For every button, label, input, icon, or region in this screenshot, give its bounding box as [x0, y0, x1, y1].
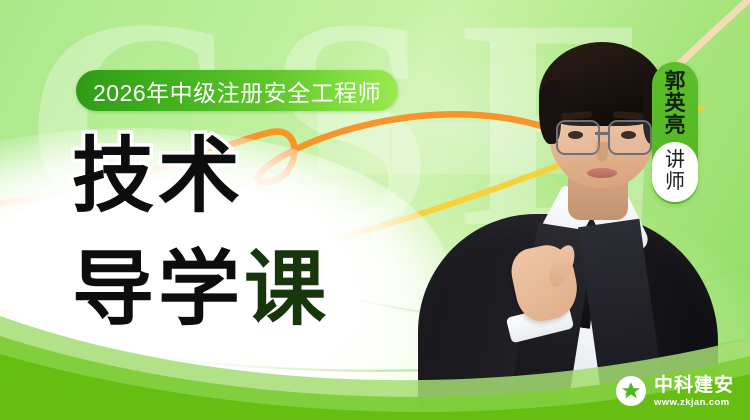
instructor-role-char-1: 讲	[665, 149, 685, 171]
instructor-role-char-2: 师	[665, 171, 685, 193]
instructor-name-char-3: 亮	[665, 115, 686, 137]
instructor-name-char-2: 英	[665, 93, 686, 115]
brand-name: 中科建安	[654, 376, 734, 395]
instructor-name-char-1: 郭	[665, 71, 686, 93]
instructor-mouth	[587, 168, 617, 178]
exam-badge-label: 2026年中级注册安全工程师	[93, 74, 381, 108]
brand-logo: 中科建安 www.zkjan.com	[616, 376, 734, 408]
instructor-glasses-left-lens	[556, 120, 600, 155]
brand-url: www.zkjan.com	[654, 398, 734, 408]
zkjan-circle-logo-icon	[616, 376, 646, 406]
course-cover-poster: CSE	[0, 0, 750, 420]
instructor-name: 郭 英 亮	[665, 62, 686, 142]
instructor-name-badge: 郭 英 亮 讲 师	[652, 62, 698, 204]
instructor-glasses-bridge	[595, 132, 609, 135]
brand-logo-text: 中科建安 www.zkjan.com	[654, 376, 734, 408]
exam-badge: 2026年中级注册安全工程师	[76, 70, 398, 111]
instructor-nose	[596, 142, 608, 162]
instructor-glasses-right-lens	[608, 120, 652, 155]
instructor-role: 讲 师	[652, 142, 698, 202]
course-title-line-1: 技术	[72, 136, 244, 218]
